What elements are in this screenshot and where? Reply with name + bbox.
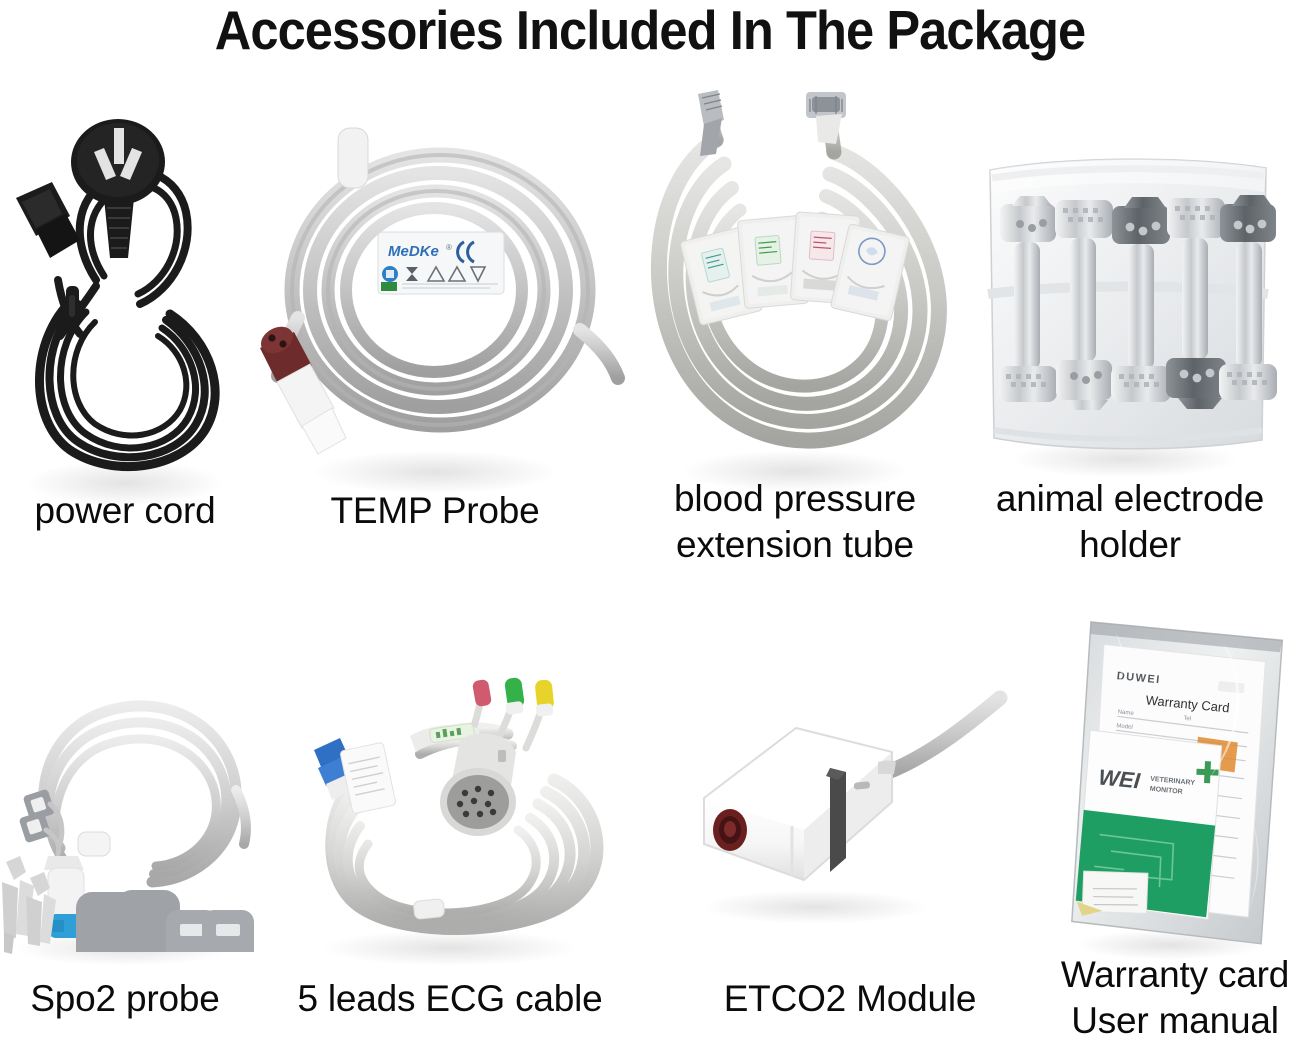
product-label-warranty-card: Warranty card User manual (1050, 952, 1300, 1044)
label-line: TEMP Probe (330, 490, 539, 531)
label-line: blood pressure (620, 476, 970, 522)
product-label-etco2-module: ETCO2 Module (650, 976, 1050, 1022)
svg-text:Tel: Tel (1183, 716, 1191, 723)
product-electrode-holder: animal electrode holder (960, 90, 1300, 600)
rubber-boot (202, 910, 254, 952)
mains-plug (71, 119, 165, 258)
product-label-temp-probe: TEMP Probe (250, 488, 620, 534)
warranty-card-icon: DUWEI Warranty Card NameMo (1068, 618, 1293, 948)
label-line: extension tube (620, 522, 970, 568)
product-blood-pressure-tube: blood pressure extension tube (620, 90, 970, 600)
lead-connector-green (504, 677, 525, 715)
label-line: Spo2 probe (30, 978, 219, 1019)
cable-tie (338, 128, 368, 188)
product-tag: MeDKe ® (378, 232, 504, 294)
iec-connector (16, 182, 80, 258)
label-line: animal electrode (960, 476, 1300, 522)
ecg-main-connector (440, 733, 516, 836)
etco2-module-icon (680, 690, 1010, 920)
ecg-cable-icon (302, 678, 632, 968)
power-cord-icon (0, 90, 250, 480)
module-body (704, 728, 892, 880)
label-line: power cord (34, 490, 215, 531)
spo2-probe-icon (0, 680, 252, 970)
cable-tie (66, 286, 79, 326)
product-warranty-card: DUWEI Warranty Card NameMo (1050, 600, 1300, 1053)
product-temp-probe: MeDKe ® (250, 90, 620, 560)
label-line: 5 leads ECG cable (297, 978, 602, 1019)
page-title: Accessories Included In The Package (52, 2, 1248, 58)
product-etco2-module: ETCO2 Module (650, 640, 1050, 1053)
temp-probe-icon: MeDKe ® (250, 90, 620, 480)
svg-text:WEI: WEI (1097, 765, 1142, 794)
luer-connector-right (806, 92, 846, 144)
product-label-blood-pressure-tube: blood pressure extension tube (620, 476, 970, 568)
product-label-spo2-probe: Spo2 probe (0, 976, 250, 1022)
product-label-electrode-holder: animal electrode holder (960, 476, 1300, 568)
lead-connector-yellow (534, 679, 554, 717)
product-label-power-cord: power cord (0, 488, 250, 534)
lead-connector-red (472, 679, 492, 707)
electrode-holder-icon (978, 148, 1278, 458)
label-line: Warranty card (1050, 952, 1300, 998)
svg-text:®: ® (446, 243, 452, 252)
blood-pressure-tube-icon (620, 90, 970, 480)
user-manual: WEI VETERINARY MONITOR (1075, 730, 1222, 923)
product-spo2-probe: Spo2 probe (0, 640, 250, 1053)
product-label-ecg-cable: 5 leads ECG cable (250, 976, 650, 1022)
label-line: holder (960, 522, 1300, 568)
svg-text:MeDKe: MeDKe (388, 243, 439, 260)
product-power-cord: power cord (0, 90, 250, 560)
label-line: ETCO2 Module (724, 978, 977, 1019)
label-line: User manual (1050, 998, 1300, 1044)
product-ecg-cable: 5 leads ECG cable (250, 640, 650, 1053)
